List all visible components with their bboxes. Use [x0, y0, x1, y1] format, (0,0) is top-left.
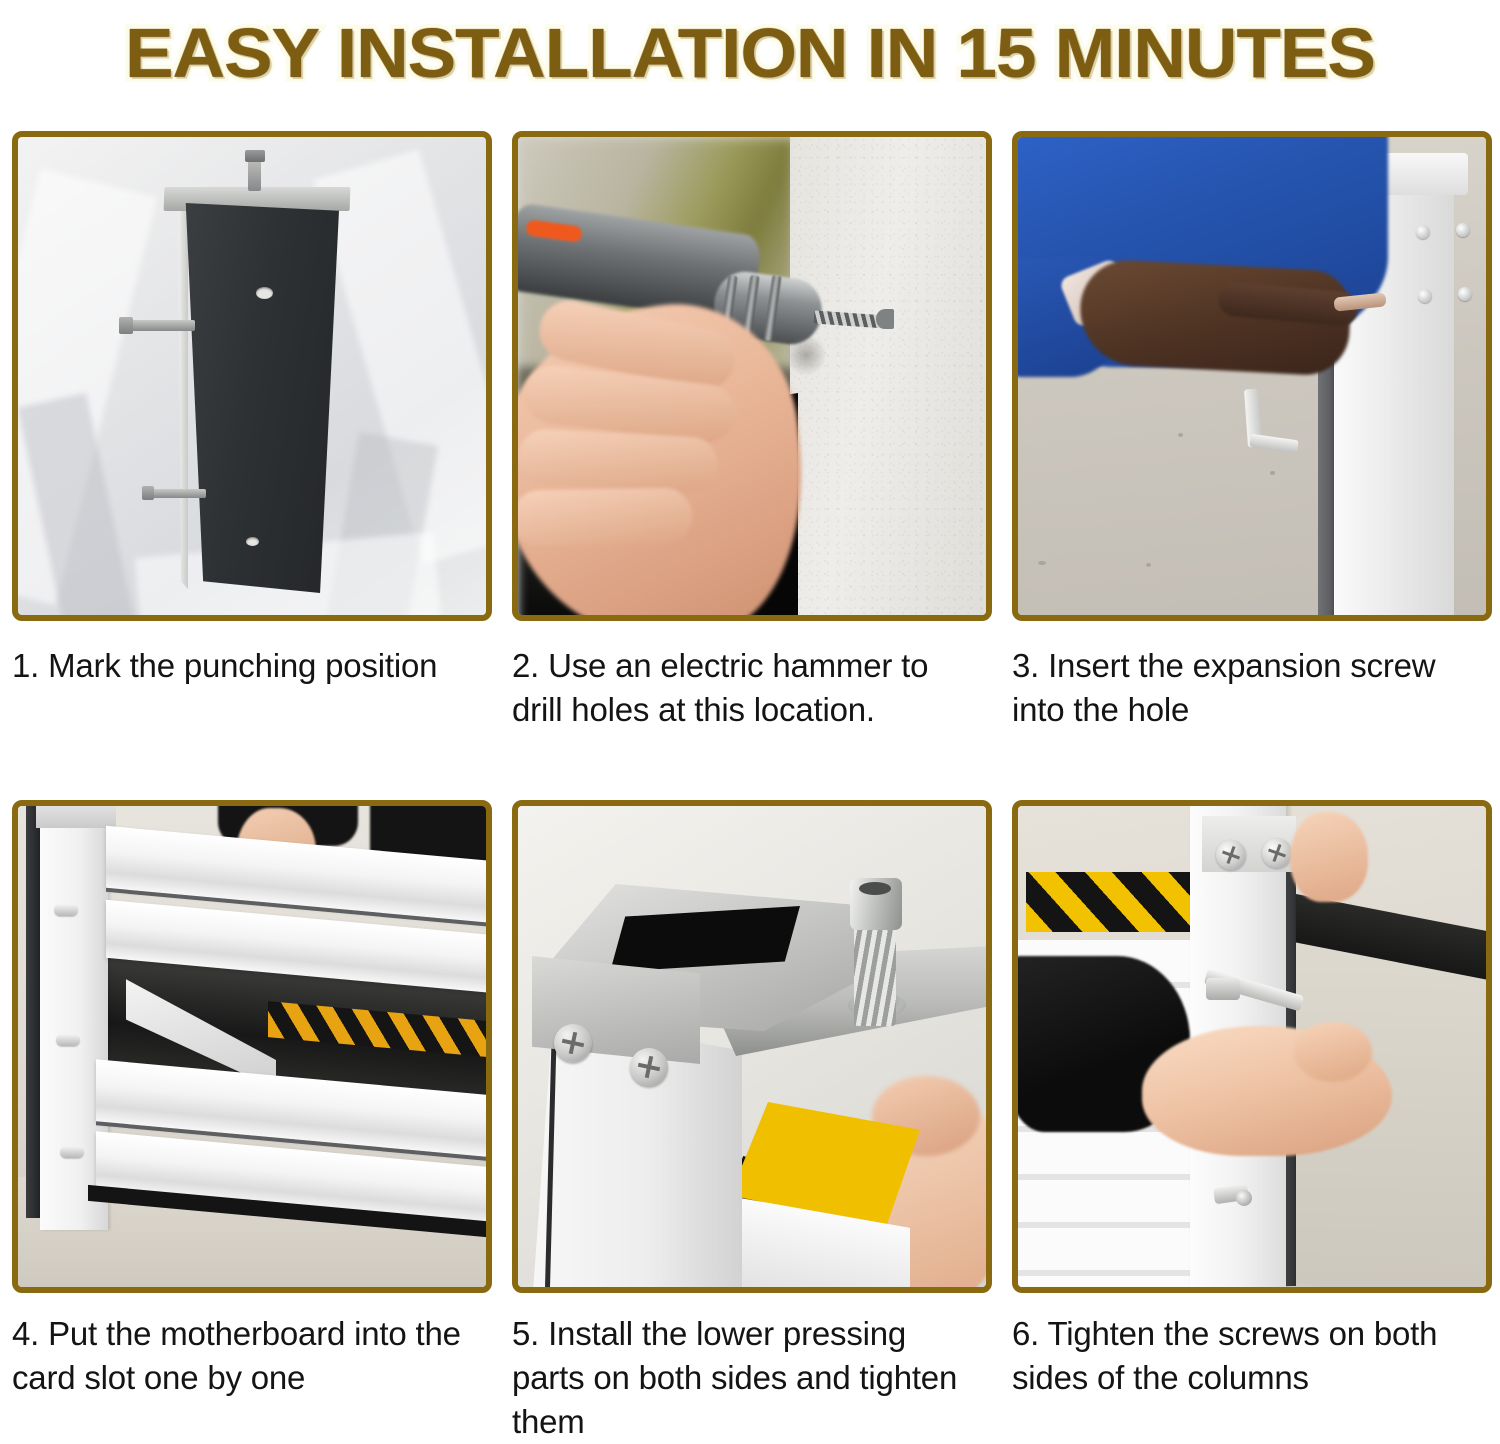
installation-guide-page: EASY INSTALLATION IN 15 MINUTES [0, 0, 1500, 1403]
phillips-screw [1216, 840, 1246, 870]
photo-content-5 [518, 806, 986, 1287]
step-card-2: 2. Use an electric hammer to drill holes… [500, 106, 1000, 775]
page-title: EASY INSTALLATION IN 15 MINUTES [125, 18, 1375, 88]
column-pin [60, 1146, 84, 1158]
drill-bit-tip [876, 309, 894, 329]
phillips-screw [630, 1048, 668, 1086]
photo-content-1 [18, 137, 486, 615]
photo-content-6 [1018, 806, 1486, 1287]
bolt-top-cap [245, 150, 265, 162]
step-caption-6: 6. Tighten the screws on both sides of t… [1012, 1312, 1482, 1400]
floor-speck [1146, 563, 1151, 567]
bolt-middle [123, 320, 195, 331]
finger [518, 487, 692, 546]
photo-content-2 [518, 137, 986, 615]
drill-dust [786, 333, 826, 377]
screw-head [1456, 223, 1470, 237]
screw-head [1416, 225, 1430, 239]
phillips-screw [554, 1024, 592, 1062]
bolt-middle-cap [119, 317, 133, 334]
photo-tighten-column-screws [1012, 800, 1492, 1293]
floor-speck [1038, 561, 1046, 565]
screw-head [1458, 287, 1472, 301]
photo-insert-expansion-screw [1012, 131, 1492, 621]
marked-hole-lower [246, 537, 259, 546]
bolt-lower [146, 489, 206, 498]
column-cap [36, 806, 116, 828]
finger [518, 428, 719, 494]
step-card-1: 1. Mark the punching position [0, 106, 500, 775]
step-card-5: 5. Install the lower pressing parts on b… [500, 775, 1000, 1403]
wrench-head [1206, 978, 1240, 1000]
floor-speck [1178, 433, 1183, 437]
screw-head [1418, 289, 1432, 303]
bolt-head [850, 878, 902, 930]
bracket-cutout [610, 906, 800, 972]
column-pin [54, 904, 78, 916]
step-caption-1: 1. Mark the punching position [12, 644, 482, 688]
photo-mark-punching-position [12, 131, 492, 621]
step-card-4: 4. Put the motherboard into the card slo… [0, 775, 500, 1403]
step-caption-3: 3. Insert the expansion screw into the h… [1012, 644, 1482, 732]
step-caption-5: 5. Install the lower pressing parts on b… [512, 1312, 982, 1444]
steps-grid: 1. Mark the punching position [0, 106, 1500, 1403]
column-edge [178, 203, 188, 593]
photo-content-4 [18, 806, 486, 1287]
bolt-lower-cap [142, 486, 154, 500]
photo-drill-holes [512, 131, 992, 621]
step-caption-2: 2. Use an electric hammer to drill holes… [512, 644, 982, 732]
thumb [1294, 1022, 1372, 1082]
column-body [181, 203, 339, 593]
step-card-6: 6. Tighten the screws on both sides of t… [1000, 775, 1500, 1403]
hazard-stripe-tape [1026, 872, 1198, 932]
marked-hole-upper [256, 287, 273, 299]
phillips-screw [1262, 838, 1292, 868]
step-caption-4: 4. Put the motherboard into the card slo… [12, 1312, 482, 1400]
column-screw-head [1236, 1190, 1252, 1206]
page-header: EASY INSTALLATION IN 15 MINUTES [0, 0, 1500, 106]
bolt-thread [854, 920, 896, 1026]
floor-speck [1270, 471, 1275, 475]
hand-upper [1290, 812, 1368, 902]
column-pin [56, 1034, 80, 1046]
step-card-3: 3. Insert the expansion screw into the h… [1000, 106, 1500, 775]
photo-content-3 [1018, 137, 1486, 615]
photo-install-pressing-parts [512, 800, 992, 1293]
photo-insert-boards-card-slot [12, 800, 492, 1293]
